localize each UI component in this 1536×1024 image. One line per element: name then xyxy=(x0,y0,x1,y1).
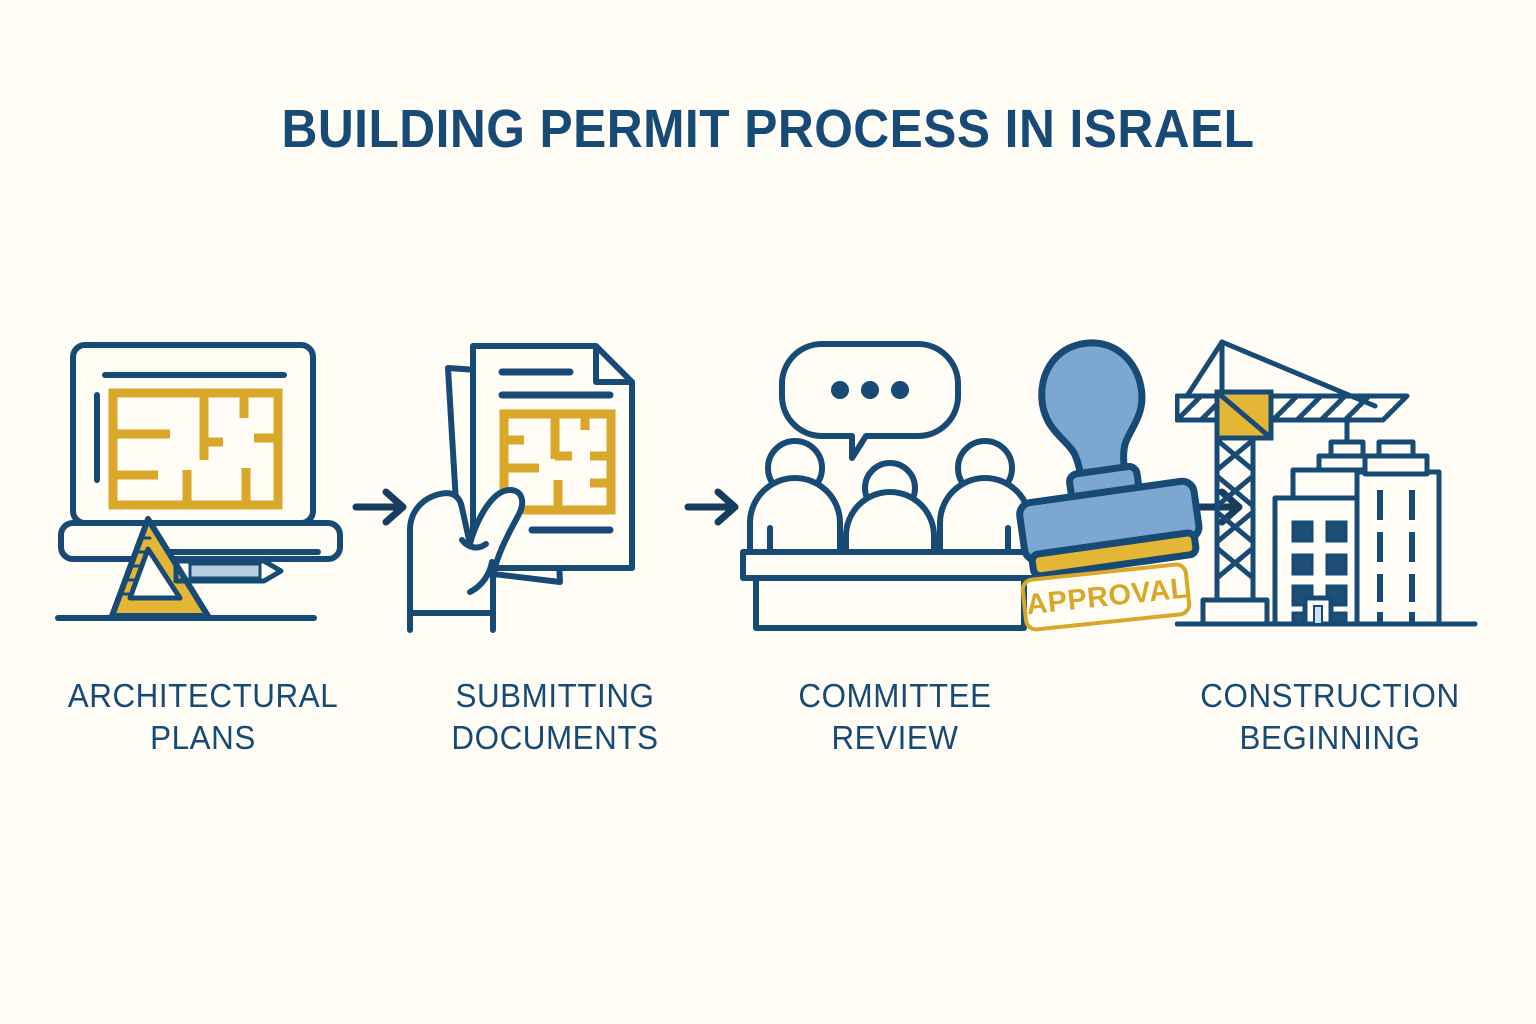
process-steps-row: ARCHITECTURAL PLANS xyxy=(0,330,1536,790)
step-architectural-plans: ARCHITECTURAL PLANS xyxy=(48,330,358,790)
step-caption-construction-beginning: CONSTRUCTION BEGINNING xyxy=(1183,675,1478,759)
step-submitting-documents: SUBMITTING DOCUMENTS xyxy=(400,330,710,790)
caption-line-2: BEGINNING xyxy=(1183,717,1478,759)
caption-line-1: ARCHITECTURAL xyxy=(56,675,351,717)
arrow-right-icon-2 xyxy=(684,485,746,529)
caption-line-1: COMMITTEE xyxy=(748,675,1043,717)
caption-line-2: PLANS xyxy=(56,717,351,759)
step-caption-committee-review: COMMITTEE REVIEW xyxy=(748,675,1043,759)
infographic-canvas: BUILDING PERMIT PROCESS IN ISRAEL xyxy=(0,0,1536,1024)
step-caption-submitting-documents: SUBMITTING DOCUMENTS xyxy=(408,675,703,759)
caption-line-1: SUBMITTING xyxy=(408,675,703,717)
caption-line-1: CONSTRUCTION xyxy=(1183,675,1478,717)
hand-holding-documents-icon xyxy=(400,330,710,640)
caption-line-2: REVIEW xyxy=(748,717,1043,759)
laptop-floorplan-ruler-pencil-icon xyxy=(48,330,358,640)
step-construction-beginning: CONSTRUCTION BEGINNING xyxy=(1175,330,1485,790)
step-committee-review: COMMITTEE REVIEW xyxy=(740,330,1050,790)
caption-line-2: DOCUMENTS xyxy=(408,717,703,759)
step-caption-architectural-plans: ARCHITECTURAL PLANS xyxy=(56,675,351,759)
page-title: BUILDING PERMIT PROCESS IN ISRAEL xyxy=(61,98,1474,160)
crane-buildings-icon xyxy=(1175,330,1485,640)
committee-people-desk-icon xyxy=(740,330,1050,640)
